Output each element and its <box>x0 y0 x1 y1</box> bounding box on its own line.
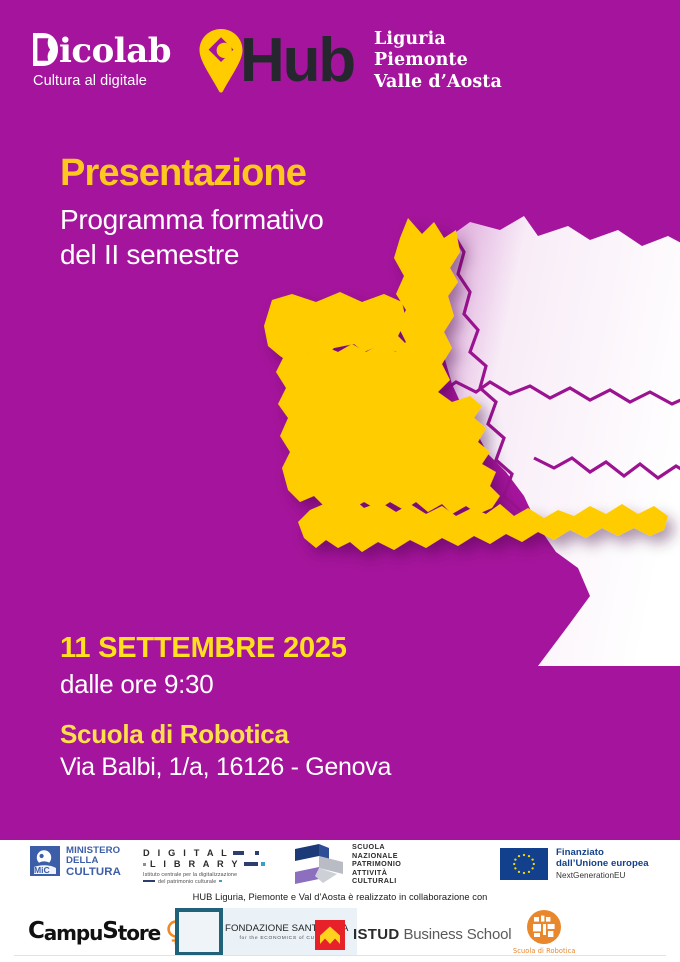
map-region-lombardia <box>434 216 680 666</box>
logo-campustore[interactable]: CampuStore <box>28 920 186 946</box>
snpac-wordmark: SCUOLA NAZIONALE PATRIMONIO ATTIVITÀ CUL… <box>352 843 401 886</box>
santagata-square-icon <box>175 908 223 956</box>
page-title: Presentazione <box>60 152 324 194</box>
logo-digital-library[interactable]: D I G I T A L L I B R A R Y <box>143 848 265 885</box>
digital-library-bars-icon <box>233 851 259 855</box>
logo-istud-business-school[interactable]: ISTUD Business School <box>315 920 511 950</box>
campustore-wordmark: CampuStore <box>28 923 160 943</box>
page-subtitle: Programma formativo del II semestre <box>60 202 324 272</box>
digital-library-subtitle: Istituto centrale per la digitalizzazion… <box>143 872 265 885</box>
dicolab-wordmark: icolab <box>33 33 171 66</box>
footer-institutional-logos: MiC MINISTERO DELLA CULTURA D I G I T A … <box>0 840 680 892</box>
digital-library-sub-line1: Istituto centrale per la digitalizzazion… <box>143 872 265 879</box>
event-time: dalle ore 9:30 <box>60 668 391 700</box>
footer-partner-logos: CampuStore FONDAZIONE SANTAGATA <box>0 908 680 962</box>
istud-suffix: Business School <box>400 926 512 943</box>
ministero-line3: CULTURA <box>66 867 121 877</box>
istud-name: ISTUD <box>353 926 400 943</box>
robotica-wordmark: Scuola di Robotica <box>513 947 576 955</box>
svg-text:MiC: MiC <box>34 865 50 875</box>
event-date: 11 SETTEMBRE 2025 <box>60 632 391 665</box>
map-border-line-3 <box>534 458 680 478</box>
digital-library-sub-line2-row: del patrimonio culturale <box>143 879 265 886</box>
title-block: Presentazione Programma formativo del II… <box>60 152 324 272</box>
footer: MiC MINISTERO DELLA CULTURA D I G I T A … <box>0 840 680 962</box>
digital-library-trailing-dot-icon <box>219 880 222 883</box>
digital-library-bars2-icon <box>244 862 265 866</box>
logo-scuola-nazionale-patrimonio[interactable]: SCUOLA NAZIONALE PATRIMONIO ATTIVITÀ CUL… <box>293 843 401 886</box>
event-details: 11 SETTEMBRE 2025 dalle ore 9:30 Scuola … <box>60 632 391 783</box>
map-highlight-group <box>264 218 668 552</box>
collaboration-caption: HUB Liguria, Piemonte e Val d’Aosta è re… <box>0 892 680 902</box>
digital-library-lead-bar-icon <box>143 880 155 883</box>
eu-line2: dall’Unione europea <box>556 858 649 869</box>
hub-region-liguria: Liguria <box>374 29 502 51</box>
event-address: Via Balbi, 1/a, 16126 - Genova <box>60 752 391 783</box>
logo-ministero-della-cultura[interactable]: MiC MINISTERO DELLA CULTURA <box>30 846 121 877</box>
campustore-ampu: ampu <box>44 921 103 945</box>
dicolab-logo[interactable]: icolab Cultura al digitale <box>33 33 171 89</box>
eu-line3: NextGenerationEU <box>556 871 649 880</box>
map-neighbor-group <box>420 216 680 666</box>
mic-emblem-icon: MiC <box>30 846 60 876</box>
snpac-ribbon-icon <box>293 843 345 885</box>
dicolab-tagline: Cultura al digitale <box>33 73 171 89</box>
digital-library-line1-row: D I G I T A L <box>143 848 265 858</box>
snpac-line5: CULTURALI <box>352 877 401 886</box>
logo-scuola-di-robotica[interactable]: Scuola di Robotica <box>513 909 576 955</box>
hub-region-valle-daosta: Valle d’Aosta <box>374 72 502 94</box>
digital-library-dot-icon <box>143 863 146 866</box>
page-subtitle-line2: del II semestre <box>60 237 324 272</box>
dicolab-d-mark-icon <box>33 33 58 66</box>
campustore-s: S <box>102 918 117 944</box>
poster-root: icolab Cultura al digitale Hub Liguria P… <box>0 0 680 962</box>
eu-line1: Finanziato <box>556 847 649 858</box>
map-region-liguria <box>298 490 668 552</box>
ministero-wordmark: MINISTERO DELLA CULTURA <box>66 846 121 877</box>
eu-wordmark: Finanziato dall’Unione europea NextGener… <box>556 847 649 880</box>
istud-arch-icon <box>315 920 345 950</box>
dicolab-wordmark-rest: icolab <box>59 36 171 66</box>
event-venue: Scuola di Robotica <box>60 718 391 750</box>
istud-wordmark: ISTUD Business School <box>353 927 511 943</box>
hub-regions-list: Liguria Piemonte Valle d’Aosta <box>374 29 502 94</box>
digital-library-line2: L I B R A R Y <box>150 859 240 869</box>
map-border-line-1 <box>452 232 520 510</box>
campustore-tore: tore <box>118 921 160 945</box>
brand-bar: icolab Cultura al digitale Hub Liguria P… <box>33 22 502 100</box>
eu-flag-icon <box>500 848 548 880</box>
robotica-circle-icon <box>526 909 562 945</box>
hub-logo[interactable]: Hub <box>198 28 354 94</box>
digital-library-line2-row: L I B R A R Y <box>143 859 265 869</box>
logo-finanziato-unione-europea[interactable]: Finanziato dall’Unione europea NextGener… <box>500 847 649 880</box>
map-pin-icon <box>198 28 244 94</box>
page-subtitle-line1: Programma formativo <box>60 202 324 237</box>
digital-library-line1: D I G I T A L <box>143 848 229 858</box>
footer-divider <box>14 955 666 956</box>
map-region-valle-daosta <box>264 292 410 364</box>
map-border-line-2 <box>420 382 680 404</box>
digital-library-sub-line2: del patrimonio culturale <box>158 879 216 885</box>
campustore-c: C <box>28 918 44 944</box>
hub-region-piemonte: Piemonte <box>374 50 502 72</box>
hub-wordmark: Hub <box>240 35 354 87</box>
